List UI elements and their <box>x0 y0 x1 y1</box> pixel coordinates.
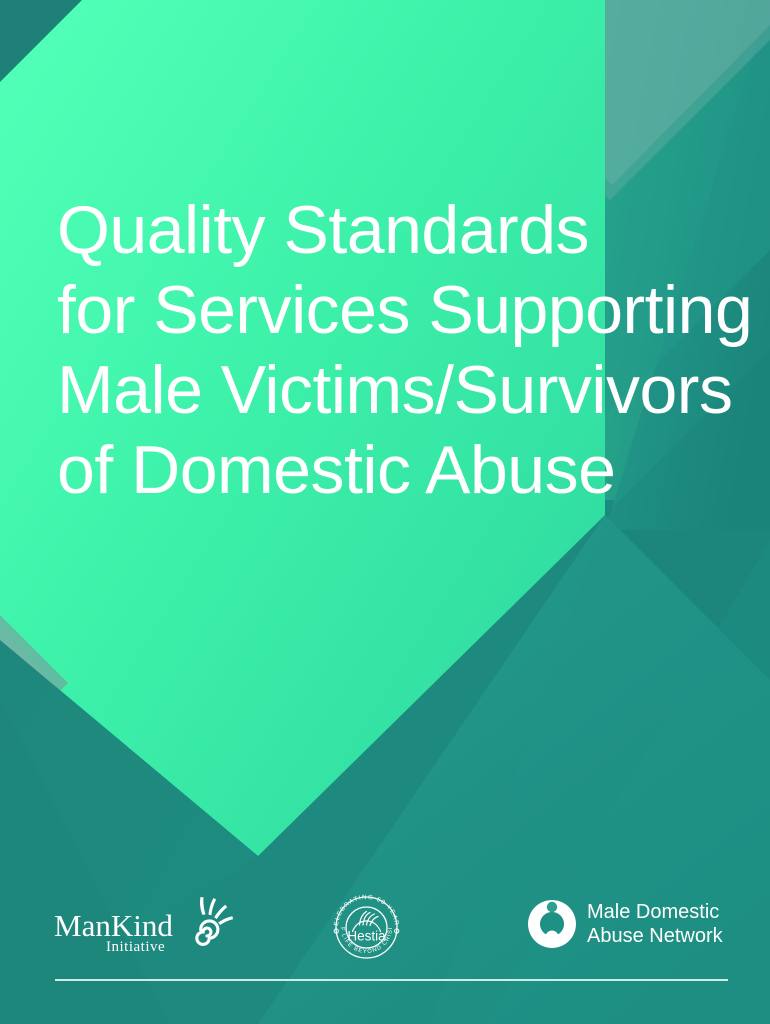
title-line-1: Quality Standards <box>57 190 717 270</box>
bottom-divider-rule <box>55 979 728 981</box>
cover-title: Quality Standards for Services Supportin… <box>57 190 717 510</box>
title-line-2: for Services Supporting <box>57 270 717 350</box>
mdan-line-2: Abuse Network <box>587 924 723 948</box>
hand-spiral-icon <box>176 896 234 948</box>
partner-logo-bar: ManKind Initiative <box>0 888 770 968</box>
background-geometry <box>0 0 770 1024</box>
document-cover-page: Quality Standards for Services Supportin… <box>0 0 770 1024</box>
mankind-subtitle: Initiative <box>106 940 165 955</box>
logo-mankind-initiative: ManKind Initiative <box>54 896 234 958</box>
hestia-badge-icon: Hestia CELEBRATING 50 YEARS OF LIFE BEYO… <box>329 890 404 965</box>
logo-male-domestic-abuse-network: Male Domestic Abuse Network <box>527 894 727 956</box>
mankind-wordmark: ManKind <box>54 910 173 941</box>
mdan-line-1: Male Domestic <box>587 900 723 924</box>
logo-hestia: Hestia CELEBRATING 50 YEARS OF LIFE BEYO… <box>329 890 404 965</box>
title-line-3: Male Victims/Survivors <box>57 350 717 430</box>
title-line-4: of Domestic Abuse <box>57 430 717 510</box>
ring-person-icon <box>527 899 577 949</box>
hestia-wordmark: Hestia <box>347 929 386 944</box>
mdan-wordmark: Male Domestic Abuse Network <box>587 900 723 948</box>
